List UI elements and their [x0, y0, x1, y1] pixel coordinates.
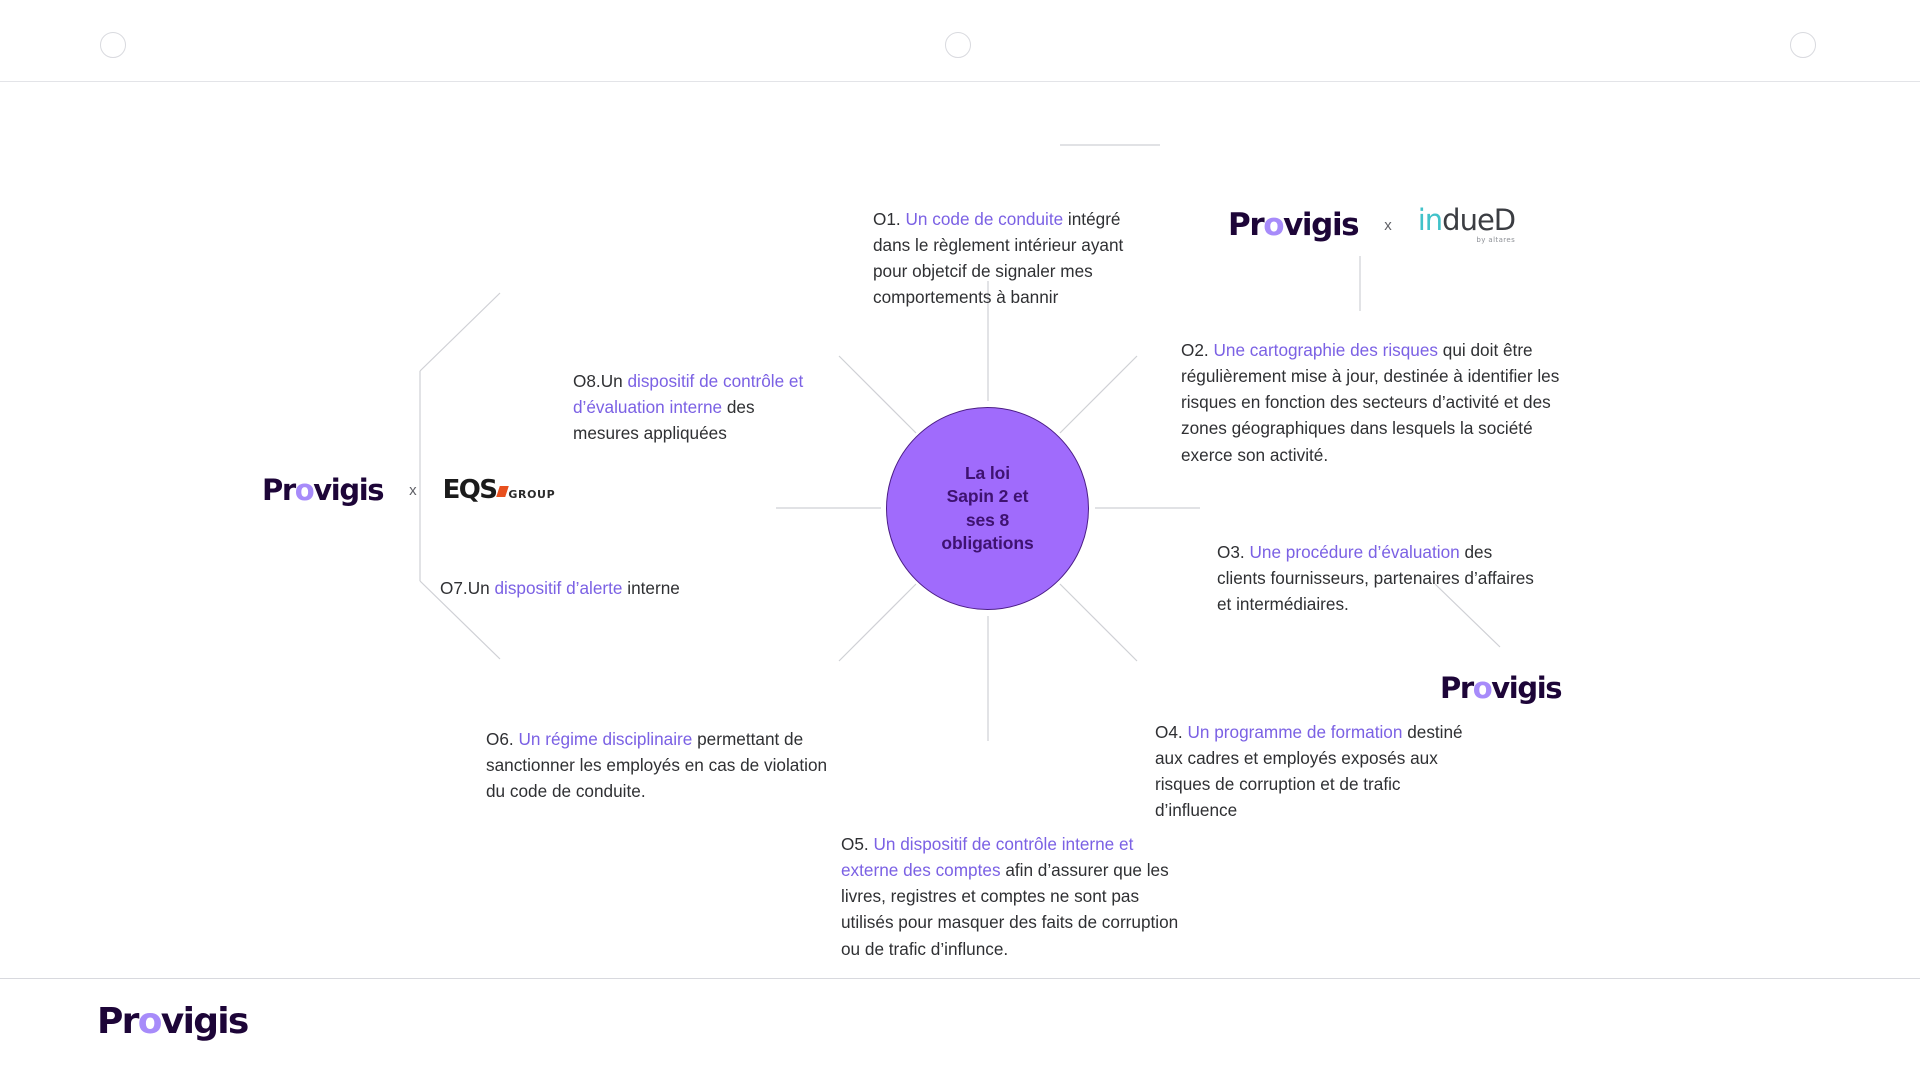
obligation-08-number: O8. — [573, 371, 601, 391]
provigis-logo-standalone: Provigis — [1440, 671, 1561, 705]
nav-dot-right-icon[interactable] — [1790, 32, 1816, 58]
center-hub-label: La loi Sapin 2 et ses 8 obligations — [941, 462, 1033, 555]
footer-bar — [0, 978, 1920, 1080]
obligation-04: O4. Un programme de formation destiné au… — [1155, 719, 1465, 824]
obligation-04-highlight: Un programme de formation — [1187, 722, 1402, 742]
obligation-06-number: O6. — [486, 729, 514, 749]
obligation-06: O6. Un régime disciplinaire permettant d… — [486, 726, 836, 804]
obligation-07: O7.Un dispositif d’alerte interne — [440, 575, 740, 601]
obligation-05-number: O5. — [841, 834, 869, 854]
provigis-logo: Provigis — [1228, 207, 1358, 243]
obligation-04-number: O4. — [1155, 722, 1183, 742]
eqs-group-logo: EQSGROUP — [443, 477, 556, 503]
obligation-03: O3. Une procédure d’évaluation des clien… — [1217, 539, 1537, 617]
provigis-logo: Provigis — [262, 473, 383, 507]
eqs-logo-main: EQS — [443, 475, 497, 505]
logo-pair-provigis-indued: Provigis x indueD by altares — [1228, 206, 1515, 244]
footer-provigis-logo: Provigis — [97, 1001, 248, 1042]
obligation-07-highlight: dispositif d’alerte — [494, 578, 622, 598]
provigis-logo-accent: o — [1473, 671, 1492, 705]
provigis-logo-accent: o — [295, 473, 314, 507]
obligation-03-number: O3. — [1217, 542, 1245, 562]
provigis-logo-accent: o — [138, 1001, 161, 1042]
logo-separator-x: x — [409, 482, 417, 499]
nav-dot-center-icon[interactable] — [945, 32, 971, 58]
diagram-area: La loi Sapin 2 et ses 8 obligations O1. … — [0, 81, 1920, 978]
obligation-08: O8.Un dispositif de contrôle et d’évalua… — [573, 368, 823, 446]
center-hub: La loi Sapin 2 et ses 8 obligations — [886, 407, 1089, 610]
provigis-logo: Provigis — [97, 1001, 248, 1042]
provigis-logo-suffix: vigis — [161, 1001, 248, 1042]
provigis-logo-suffix: vigis — [313, 473, 383, 507]
provigis-logo-prefix: Pr — [262, 473, 295, 507]
indued-logo-word: indueD — [1418, 203, 1515, 237]
obligation-08-prefix: Un — [601, 371, 628, 391]
obligation-07-text: interne — [622, 578, 679, 598]
obligation-07-prefix: Un — [468, 578, 495, 598]
provigis-logo-suffix: vigis — [1491, 671, 1561, 705]
obligation-02-number: O2. — [1181, 340, 1209, 360]
provigis-logo-prefix: Pr — [1228, 207, 1263, 243]
obligation-06-highlight: Un régime disciplinaire — [518, 729, 692, 749]
logo-pair-provigis-eqs: Provigis x EQSGROUP — [262, 473, 555, 507]
provigis-logo-accent: o — [1263, 207, 1283, 243]
top-bar — [0, 0, 1920, 82]
logo-separator-x: x — [1384, 217, 1392, 234]
provigis-logo: Provigis — [1440, 671, 1561, 705]
indued-logo-subtitle: by altares — [1418, 237, 1515, 244]
provigis-logo-prefix: Pr — [1440, 671, 1473, 705]
nav-dot-left-icon[interactable] — [100, 32, 126, 58]
provigis-logo-suffix: vigis — [1283, 207, 1358, 243]
slide-canvas: La loi Sapin 2 et ses 8 obligations O1. … — [0, 0, 1920, 1080]
indued-logo-dark: dueD — [1442, 203, 1515, 237]
obligation-01-number: O1. — [873, 209, 901, 229]
obligation-03-highlight: Une procédure d’évaluation — [1249, 542, 1459, 562]
indued-logo-teal: in — [1418, 203, 1442, 237]
obligation-07-number: O7. — [440, 578, 468, 598]
indued-logo: indueD by altares — [1418, 206, 1515, 244]
obligation-01-highlight: Un code de conduite — [905, 209, 1063, 229]
provigis-logo-prefix: Pr — [97, 1001, 138, 1042]
obligation-02: O2. Une cartographie des risques qui doi… — [1181, 337, 1581, 468]
obligation-05: O5. Un dispositif de contrôle interne et… — [841, 831, 1181, 962]
obligation-01: O1. Un code de conduite intégré dans le … — [873, 206, 1148, 311]
eqs-logo-group: GROUP — [508, 488, 555, 501]
obligation-02-highlight: Une cartographie des risques — [1213, 340, 1438, 360]
